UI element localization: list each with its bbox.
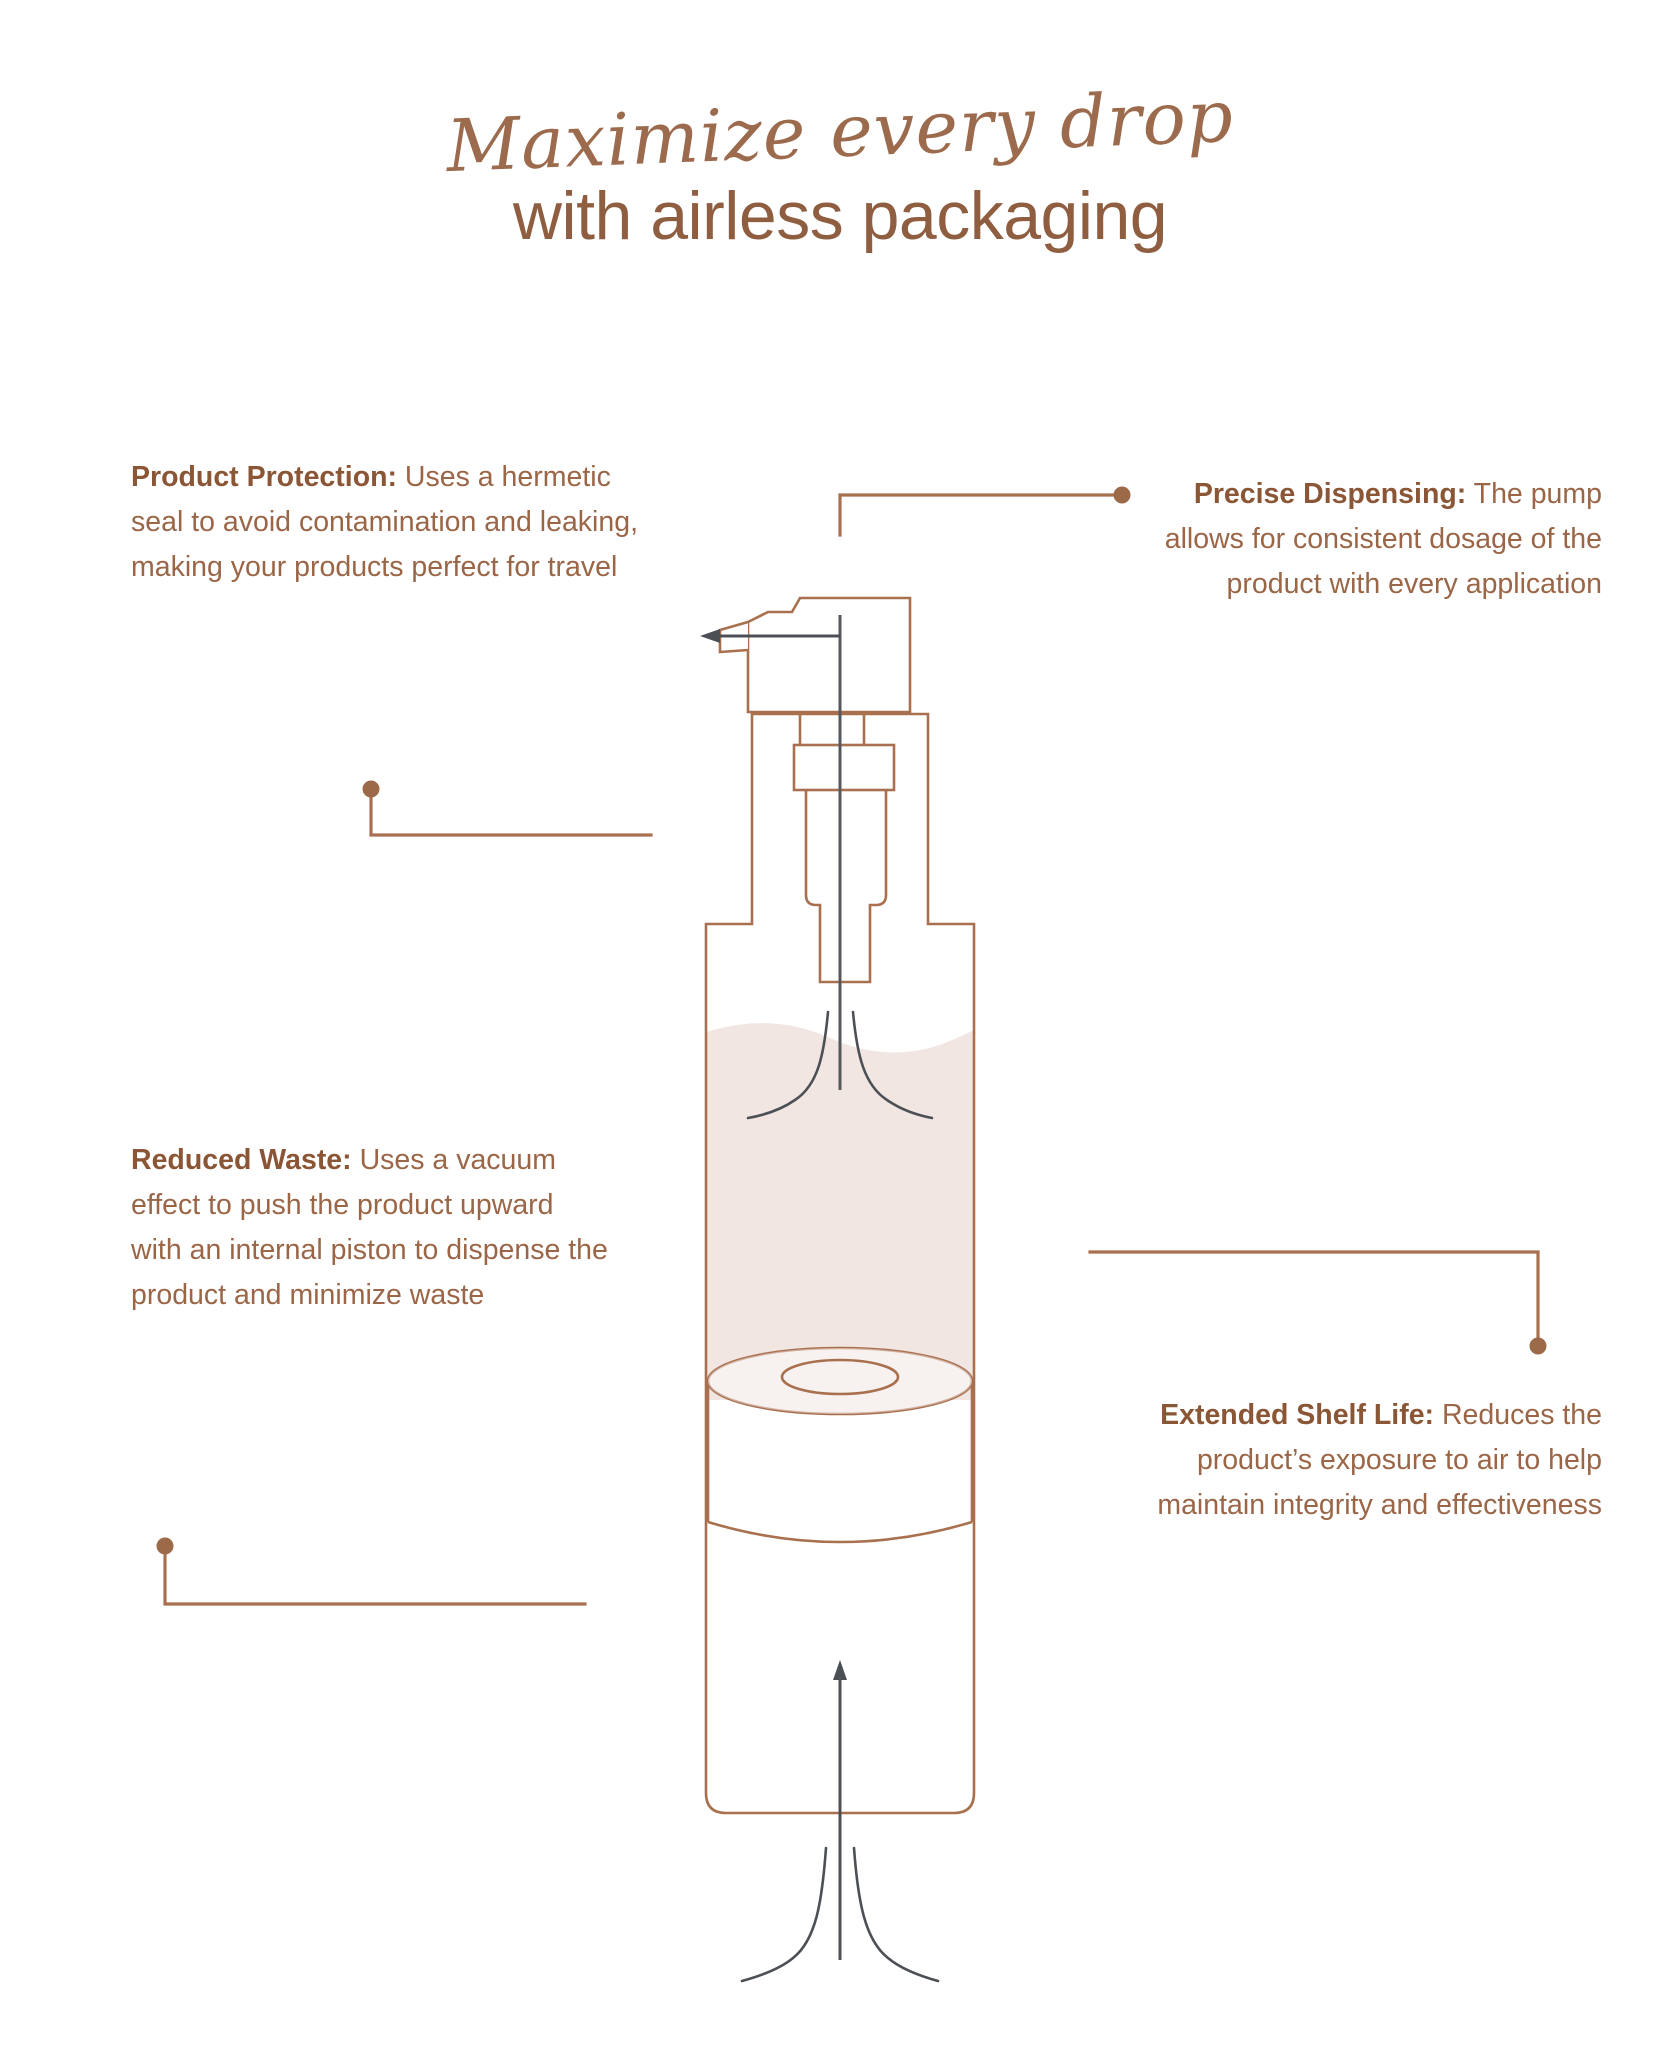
piston-inner-ring xyxy=(782,1360,898,1394)
pump-actuator xyxy=(748,598,910,712)
title-main-line: with airless packaging xyxy=(0,181,1680,252)
leader-line-reduced-waste xyxy=(157,1538,586,1605)
callout-lede: Product Protection: xyxy=(131,461,397,493)
page-title: Maximize every drop with airless packagi… xyxy=(0,95,1680,252)
leader-line-product-protection xyxy=(363,781,652,836)
callout-precise-dispensing: Precise Dispensing: The pump allows for … xyxy=(1130,472,1602,607)
leader-dot xyxy=(1530,1338,1547,1355)
bottle-shoulder-right xyxy=(884,714,974,930)
flow-curl-lower xyxy=(742,1848,938,1981)
piston-bottom-edge xyxy=(708,1522,972,1542)
dispensing-nozzle xyxy=(720,622,748,652)
bottle-shoulder-left xyxy=(706,714,884,930)
callout-product-protection: Product Protection: Uses a hermetic seal… xyxy=(131,455,651,590)
product-liquid xyxy=(700,1023,980,1400)
leader-dot xyxy=(363,781,380,798)
internal-piston xyxy=(708,1348,972,1542)
leader-line-extended-shelf-life xyxy=(1090,1252,1547,1355)
airless-bottle-diagram xyxy=(0,0,1680,2069)
leader-dot xyxy=(157,1538,174,1555)
flow-curl-upper xyxy=(748,1012,932,1118)
product-out-arrow-left xyxy=(700,629,840,643)
infographic-page: Maximize every drop with airless packagi… xyxy=(0,0,1680,2069)
vacuum-up-arrow xyxy=(833,1660,847,1960)
callout-reduced-waste: Reduced Waste: Uses a vacuum effect to p… xyxy=(131,1138,611,1318)
leader-line-precise-dispensing xyxy=(840,487,1131,536)
leader-dot xyxy=(1114,487,1131,504)
pump-chamber xyxy=(806,790,886,982)
callout-lede: Reduced Waste: xyxy=(131,1144,352,1176)
callout-extended-shelf-life: Extended Shelf Life: Reduces the product… xyxy=(1130,1393,1602,1528)
callout-lede: Precise Dispensing: xyxy=(1194,478,1466,510)
pump-stem xyxy=(800,712,864,745)
callout-lede: Extended Shelf Life: xyxy=(1160,1399,1434,1431)
pump-collar xyxy=(794,745,894,790)
bottle-body xyxy=(706,930,974,1813)
